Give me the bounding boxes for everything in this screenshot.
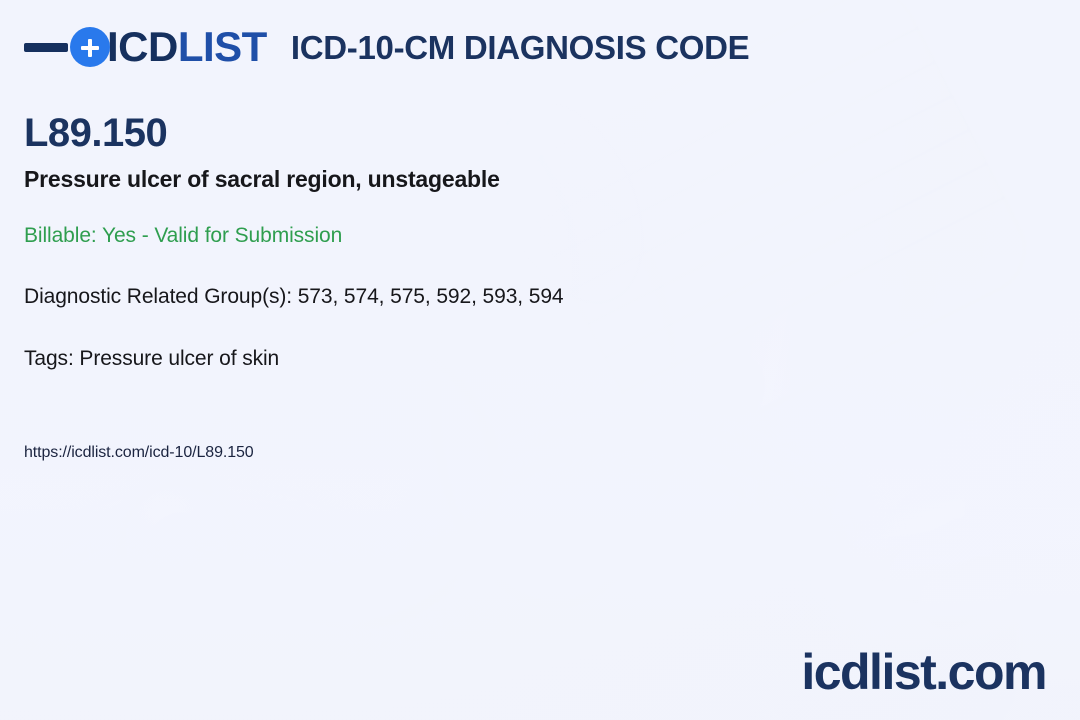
card-content: ICD LIST ICD-10-CM DIAGNOSIS CODE L89.15… bbox=[0, 0, 1080, 720]
plus-circle-icon bbox=[70, 27, 110, 67]
page-title: ICD-10-CM DIAGNOSIS CODE bbox=[291, 31, 750, 64]
diagnosis-description: Pressure ulcer of sacral region, unstage… bbox=[24, 166, 500, 194]
icd-code-card: ICD LIST ICD-10-CM DIAGNOSIS CODE L89.15… bbox=[0, 0, 1080, 720]
dash-icon bbox=[24, 43, 68, 52]
billable-status: Billable: Yes - Valid for Submission bbox=[24, 224, 342, 248]
drg-list: Diagnostic Related Group(s): 573, 574, 5… bbox=[24, 285, 564, 309]
page-header: ICD LIST ICD-10-CM DIAGNOSIS CODE bbox=[24, 26, 749, 68]
logo-text-secondary: LIST bbox=[178, 26, 267, 68]
diagnosis-code: L89.150 bbox=[24, 113, 167, 153]
footer-brand: icdlist.com bbox=[801, 647, 1046, 697]
tags-list: Tags: Pressure ulcer of skin bbox=[24, 347, 279, 371]
icdlist-logo[interactable]: ICD LIST bbox=[24, 26, 267, 68]
logo-text-primary: ICD bbox=[107, 26, 178, 68]
source-url[interactable]: https://icdlist.com/icd-10/L89.150 bbox=[24, 444, 254, 462]
